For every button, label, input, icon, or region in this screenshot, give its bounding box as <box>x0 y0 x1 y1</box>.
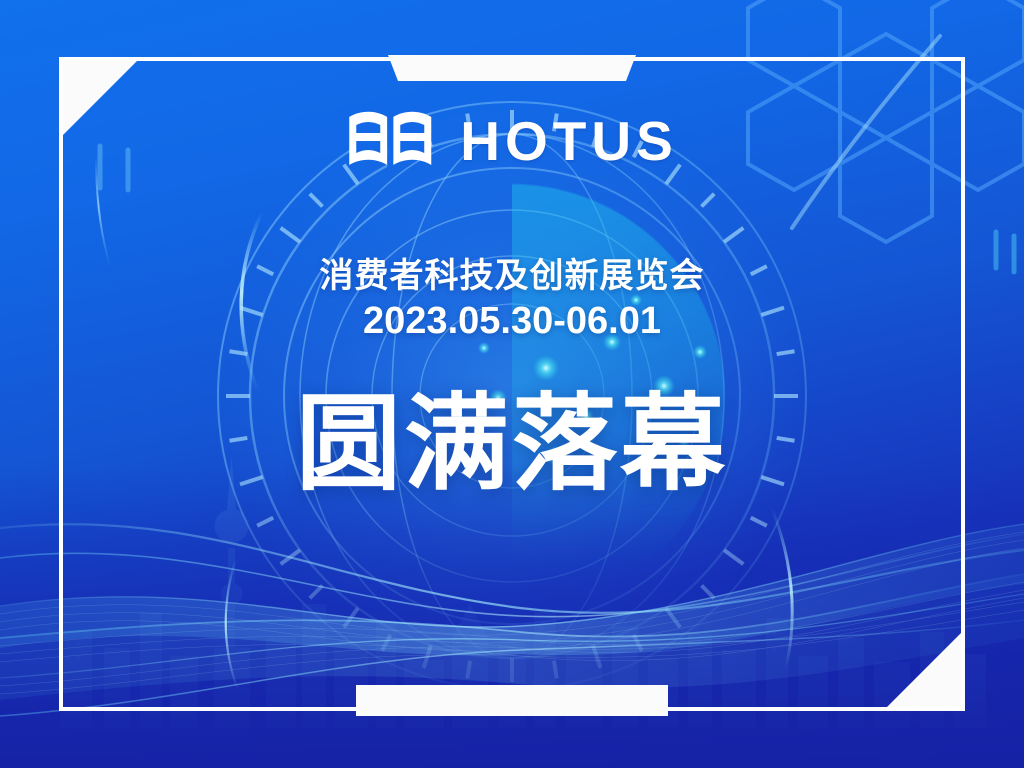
event-subtitle: 消费者科技及创新展览会 2023.05.30-06.01 <box>0 256 1024 344</box>
event-name: 消费者科技及创新展览会 <box>0 256 1024 297</box>
brand-name: HOTUS <box>460 114 678 169</box>
brand-logo: HOTUS <box>346 108 678 174</box>
open-book-icon <box>346 108 434 174</box>
event-date-range: 2023.05.30-06.01 <box>0 299 1024 344</box>
page-title: 圆满落幕 <box>0 392 1024 497</box>
poster-content: HOTUS 消费者科技及创新展览会 2023.05.30-06.01 圆满落幕 <box>0 0 1024 768</box>
event-poster: HOTUS 消费者科技及创新展览会 2023.05.30-06.01 圆满落幕 <box>0 0 1024 768</box>
